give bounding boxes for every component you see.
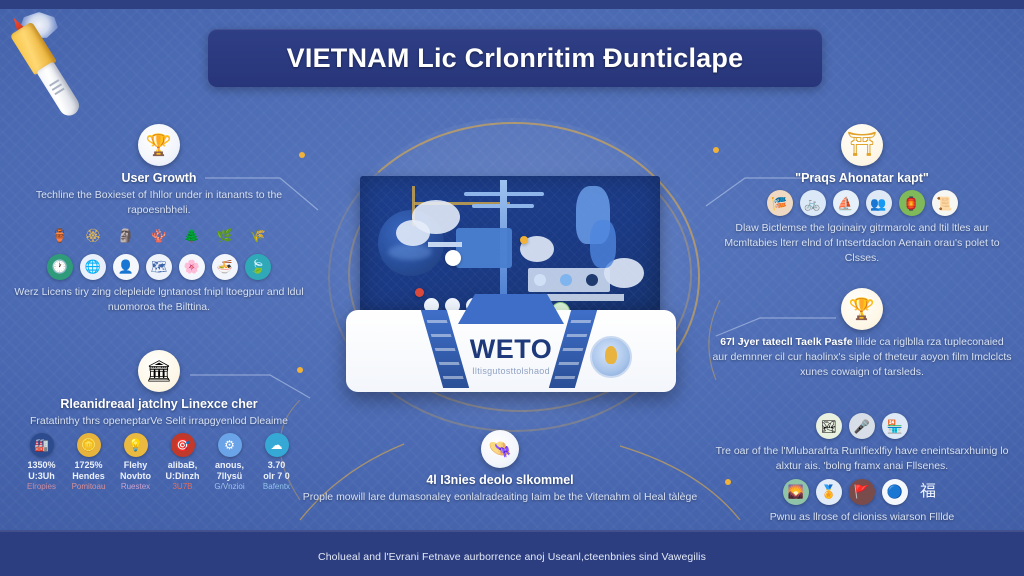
pin-icon: [445, 250, 461, 266]
temple-gate-icon: ⛩: [841, 124, 883, 166]
hat-icon: 👒: [481, 430, 519, 468]
clock-icon[interactable]: 🕐: [47, 254, 73, 280]
section-community[interactable]: 🏞 🎤 🏪 Tre oar of the l'Mlubarafrta Runlf…: [712, 408, 1012, 525]
stat-value: 3.70: [257, 460, 297, 471]
user-growth-caption: Werz Licens tiry zing clepleide lgntanos…: [14, 285, 304, 315]
flag-icon[interactable]: 🚩: [849, 479, 875, 505]
stat-value2: U:3Uh: [22, 471, 62, 482]
stat-value2: Hendes: [69, 471, 109, 482]
panel-strip: [528, 268, 610, 292]
community-body: Tre oar of the l'Mlubarafrta Runlfiexlfi…: [712, 444, 1012, 474]
page-title: VIETNAM Lic Crlonritim Đunticlape: [287, 43, 744, 74]
infographic-canvas: VIETNAM Lic Crlonritim Đunticlape: [0, 0, 1024, 576]
user-growth-body: Techline the Boxieset of Ihllor under in…: [14, 188, 304, 218]
section-tourism[interactable]: 👒 4l I3nies deolo slkommel Prople mowill…: [300, 430, 700, 505]
stat-value: anous,: [210, 460, 250, 471]
people-icon[interactable]: 👥: [866, 190, 892, 216]
stat-item[interactable]: 🪙 1725% Hendes Pomitoau: [69, 433, 109, 493]
globe-icon[interactable]: 🌐: [80, 254, 106, 280]
tourism-title: 4l I3nies deolo slkommel: [300, 473, 700, 487]
community-icons-top: 🏞 🎤 🏪: [712, 413, 1012, 439]
map-icon[interactable]: 🗺: [146, 254, 172, 280]
bowl-icon[interactable]: 🍜: [212, 254, 238, 280]
stat-item[interactable]: 🏭 1350% U:3Uh Elropies: [22, 433, 62, 493]
factory-icon: 🏭: [30, 433, 54, 457]
stat-value2: Novbto: [116, 471, 156, 482]
gear-icon: ⚙: [218, 433, 242, 457]
stat-label: Elropies: [22, 482, 62, 492]
farm-icon[interactable]: 🌄: [783, 479, 809, 505]
traffic-title: 67l Ɉyer tatecll Taelk Pasfe: [720, 336, 852, 348]
stat-value: 1350%: [22, 460, 62, 471]
cloud-icon: ☁: [265, 433, 289, 457]
statue-icon: 🏺: [47, 223, 73, 249]
platform-base: WETO Iltisgutosttolshaod: [346, 310, 676, 392]
badge-icon[interactable]: 🔵: [882, 479, 908, 505]
landmark-body: Dlaw Bictlemse the lgoinairy gitrmarolc …: [712, 221, 1012, 266]
user-growth-icons-bottom: 🕐 🌐 👤 🗺 🌸 🍜 🍃: [14, 254, 304, 280]
trophy-statue-icon: 🏆: [138, 124, 180, 166]
landscape-icon[interactable]: 🏞: [816, 413, 842, 439]
person-icon[interactable]: 👤: [113, 254, 139, 280]
monument-icon: 🗿: [113, 223, 139, 249]
top-band: [0, 0, 1024, 9]
machine-icon: [456, 228, 512, 268]
plant-icon: 🌿: [212, 223, 238, 249]
section-traffic[interactable]: 🏆 67l Ɉyer tatecll Taelk Pasfe lilide ca…: [712, 288, 1012, 380]
heritage-body: Fratatinthy thrs openeptarVe Selit irrap…: [14, 414, 304, 429]
marker-pen-icon: [8, 4, 126, 106]
landmark-icon-row: 🎏 🚲 ⛵ 👥 🏮 📜: [712, 190, 1012, 216]
stat-label: 3U7B: [163, 482, 203, 492]
user-growth-icons-top: 🏺 🏵 🗿 🪸 🌲 🌿 🌾: [14, 223, 304, 249]
stat-value: 1725%: [69, 460, 109, 471]
title-banner: VIETNAM Lic Crlonritim Đunticlape: [208, 29, 822, 87]
stat-value2: U:Dinzh: [163, 471, 203, 482]
calligraphy-icon: 福: [915, 479, 941, 505]
stat-value2: 7llysü: [210, 471, 250, 482]
stat-item[interactable]: 🎯 alibaB, U:Dinzh 3U7B: [163, 433, 203, 493]
stat-item[interactable]: ⚙ anous, 7llysü G/Vnzioi: [210, 433, 250, 493]
bulb-icon: 💡: [124, 433, 148, 457]
market-icon[interactable]: 🏪: [882, 413, 908, 439]
scroll-icon[interactable]: 📜: [932, 190, 958, 216]
ramp-shape: [458, 294, 564, 324]
microphone-icon[interactable]: 🎤: [849, 413, 875, 439]
stat-value2: olr 7 0: [257, 471, 297, 482]
pagoda-icon: 🏛: [138, 350, 180, 392]
shrub-icon: 🌾: [245, 223, 271, 249]
landmark-title: "Praqs Ahonatar kapt": [712, 171, 1012, 185]
stat-value: alibaB,: [163, 460, 203, 471]
stat-label: G/Vnzioi: [210, 482, 250, 492]
stat-value: Flehy: [116, 460, 156, 471]
tourism-body: Prople mowill lare dumasonaleɣ eonlalrad…: [300, 490, 700, 505]
bicycle-icon[interactable]: 🚲: [800, 190, 826, 216]
heritage-title: Rleanidreaal jatclny Linexce cher: [14, 397, 304, 411]
community-icons-bottom: 🌄 🏅 🚩 🔵 福: [712, 479, 1012, 505]
cloud-icon: [396, 220, 430, 246]
stat-item[interactable]: ☁ 3.70 olr 7 0 Bafentx: [257, 433, 297, 493]
stat-label: Ruestex: [116, 482, 156, 492]
award-seal-icon: [590, 336, 632, 378]
coin-icon: 🪙: [77, 433, 101, 457]
pin-icon: [520, 236, 528, 244]
target-icon: 🎯: [171, 433, 195, 457]
tree-icon: [590, 220, 616, 268]
stat-label: Bafentx: [257, 482, 297, 492]
stat-label: Pomitoau: [69, 482, 109, 492]
leaf-icon[interactable]: 🍃: [245, 254, 271, 280]
tree-icon: 🌲: [179, 223, 205, 249]
community-caption: Pwnu as llrose of clioniss wiarson Fllld…: [712, 510, 1012, 525]
lantern-icon[interactable]: 🏮: [899, 190, 925, 216]
coral-icon: 🪸: [146, 223, 172, 249]
footer-note: Cholueal and l'Evrani Fetnave aurborrenc…: [0, 551, 1024, 563]
section-heritage[interactable]: 🏛 Rleanidreaal jatclny Linexce cher Frat…: [14, 350, 304, 492]
festival-icon[interactable]: 🎏: [767, 190, 793, 216]
gold-statue-icon: 🏵: [80, 223, 106, 249]
section-user-growth[interactable]: 🏆 User Growth Techline the Boxieset of I…: [14, 124, 304, 315]
stat-item[interactable]: 💡 Flehy Novbto Ruestex: [116, 433, 156, 493]
heritage-stat-row: 🏭 1350% U:3Uh Elropies 🪙 1725% Hendes Po…: [14, 433, 304, 493]
sport-icon[interactable]: 🏅: [816, 479, 842, 505]
boat-icon[interactable]: ⛵: [833, 190, 859, 216]
trophy-icon: 🏆: [841, 288, 883, 330]
central-illustration: WETO Iltisgutosttolshaod: [322, 118, 706, 436]
flower-icon[interactable]: 🌸: [179, 254, 205, 280]
pen-barrel: [36, 61, 83, 119]
section-landmark[interactable]: ⛩ "Praqs Ahonatar kapt" 🎏 🚲 ⛵ 👥 🏮 📜 Dlaw…: [712, 124, 1012, 266]
user-growth-title: User Growth: [14, 171, 304, 185]
pin-icon: [415, 288, 424, 297]
